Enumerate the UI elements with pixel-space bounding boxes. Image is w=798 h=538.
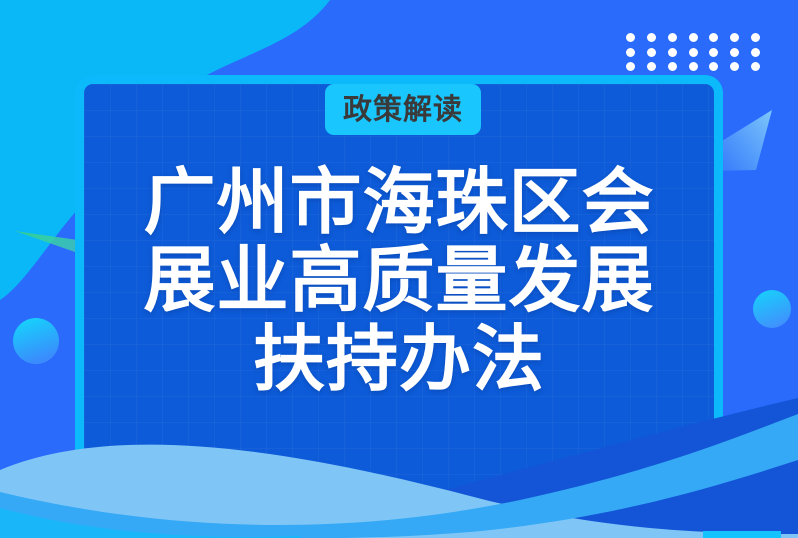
- bottom-right-cyan-bar: [703, 531, 781, 538]
- policy-poster: 政策解读 广州市海珠区会 展业高质量发展 扶持办法: [0, 0, 798, 538]
- bottom-wave-decorations: [0, 0, 798, 538]
